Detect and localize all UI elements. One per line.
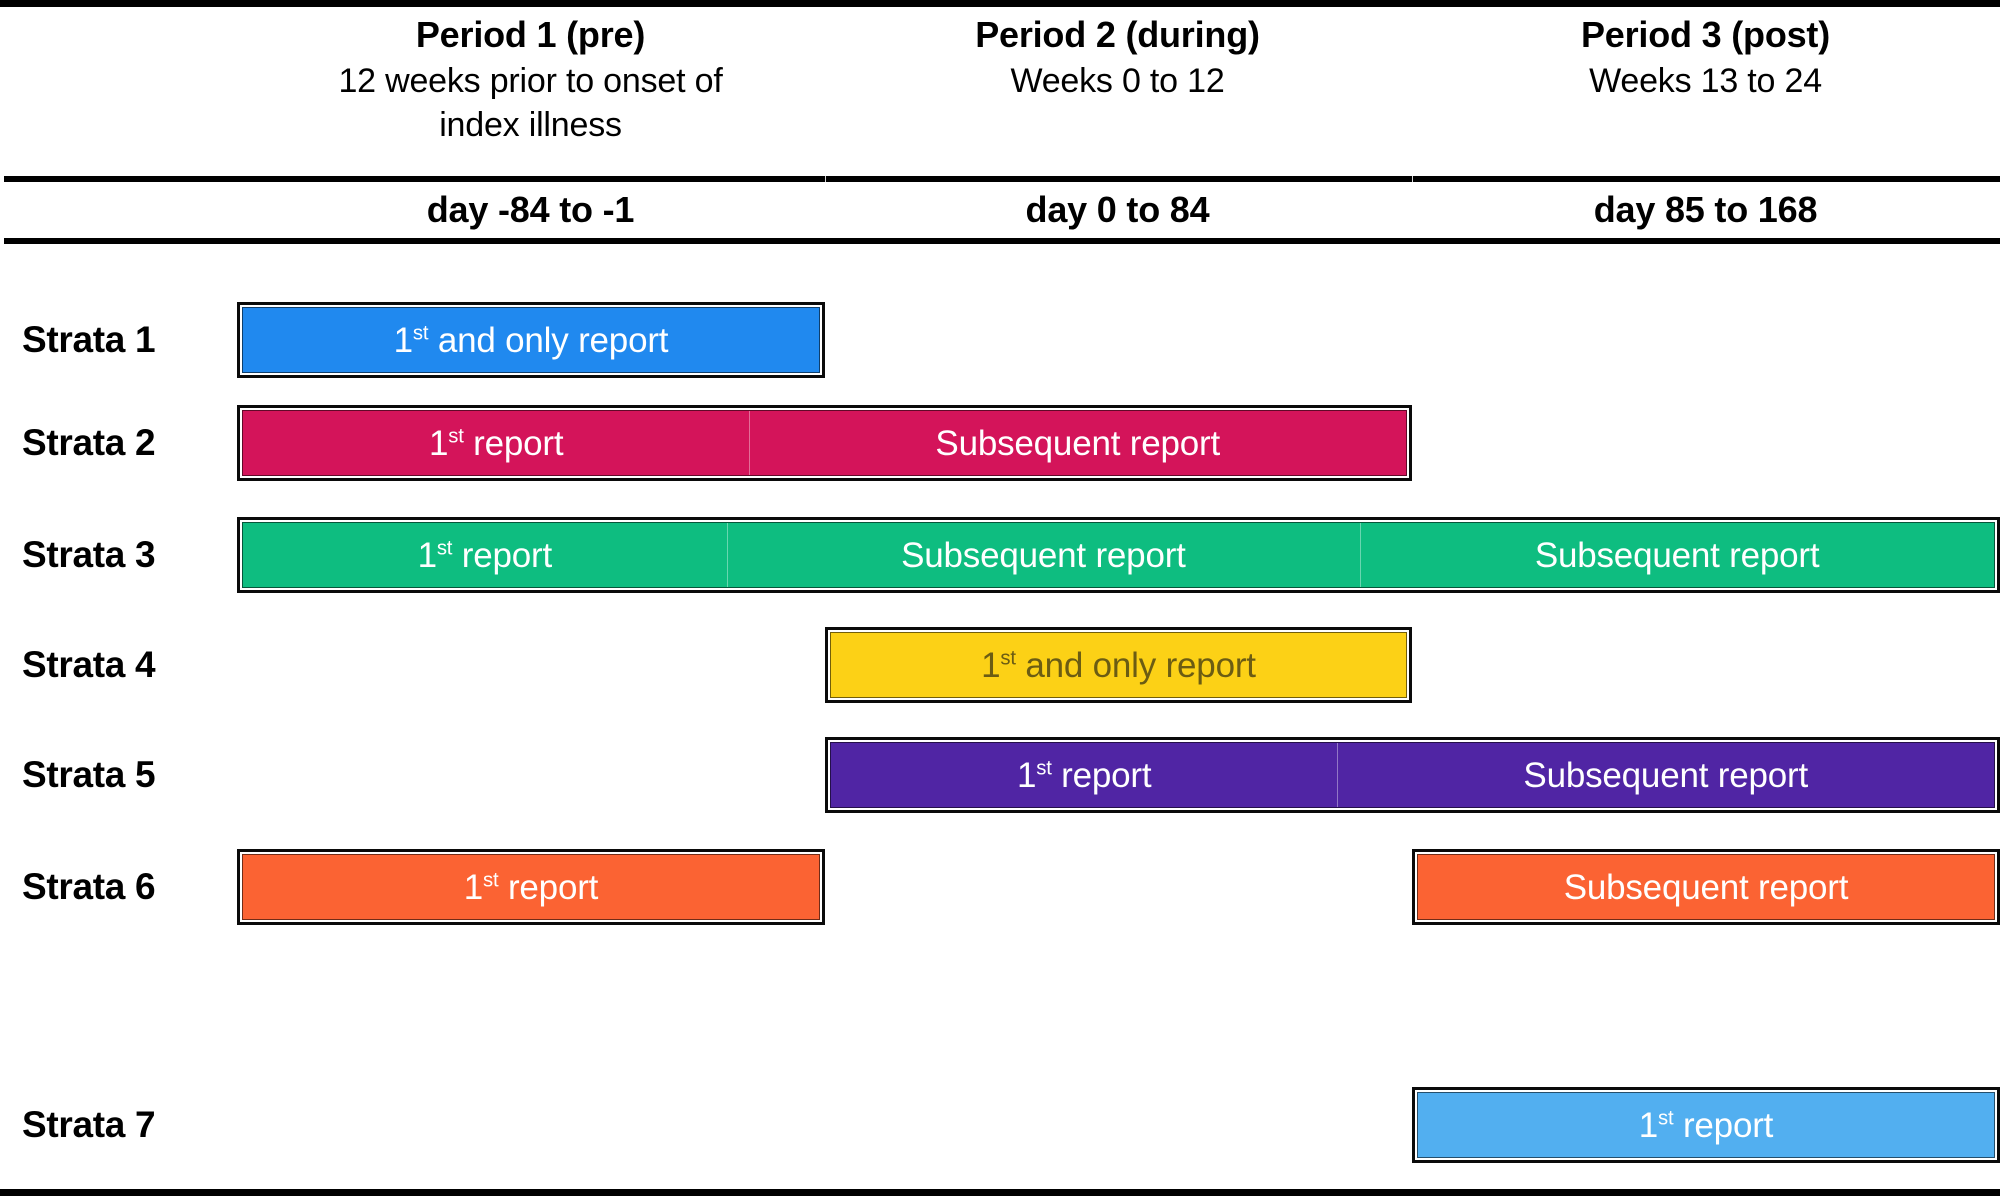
table-bottom-rule bbox=[0, 1189, 2000, 1196]
strata-bar[interactable]: 1st reportSubsequent reportSubsequent re… bbox=[237, 517, 2000, 593]
strata-bar-fill: 1st reportSubsequent reportSubsequent re… bbox=[242, 522, 1995, 588]
strata-bar-fill: Subsequent report bbox=[1417, 854, 1995, 920]
ordinal-suffix: st bbox=[448, 425, 463, 447]
ordinal-suffix: st bbox=[413, 322, 428, 344]
strata-bar-segment: 1st report bbox=[243, 855, 819, 919]
period-header-cell-2: Period 2 (during) Weeks 0 to 12 bbox=[824, 0, 1411, 176]
period-1-title: Period 1 (pre) bbox=[237, 12, 824, 59]
strata-row-label: Strata 7 bbox=[22, 1104, 155, 1146]
period-3-subtitle-line-1: Weeks 13 to 24 bbox=[1411, 59, 2000, 103]
strata-row-label: Strata 6 bbox=[22, 866, 155, 908]
strata-row: Strata 61st reportSubsequent report bbox=[0, 832, 2000, 942]
period-1-day-range: day -84 to -1 bbox=[237, 189, 824, 231]
strata-bar-segment-label: 1st report bbox=[1639, 1108, 1773, 1143]
header-left-spacer bbox=[0, 0, 237, 176]
strata-row: Strata 71st report bbox=[0, 1070, 2000, 1180]
period-1-subtitle-line-1: 12 weeks prior to onset of bbox=[237, 59, 824, 103]
strata-bar-segment-label: 1st report bbox=[1017, 758, 1151, 793]
strata-bar-fill: 1st report bbox=[1417, 1092, 1995, 1158]
ordinal-suffix: st bbox=[1036, 757, 1051, 779]
ordinal-suffix: st bbox=[437, 537, 452, 559]
strata-row-label: Strata 3 bbox=[22, 534, 155, 576]
strata-bar-fill: 1st and only report bbox=[242, 307, 820, 373]
strata-bar[interactable]: 1st reportSubsequent report bbox=[237, 405, 1412, 481]
strata-bar-segment: 1st report bbox=[1418, 1093, 1994, 1157]
ordinal-suffix: st bbox=[1658, 1107, 1673, 1129]
strata-row: Strata 11st and only report bbox=[0, 285, 2000, 395]
strata-bar-segment-label: Subsequent report bbox=[1523, 758, 1808, 793]
strata-bar[interactable]: 1st and only report bbox=[825, 627, 1412, 703]
strata-bar[interactable]: 1st report bbox=[237, 849, 825, 925]
strata-bar-segment: Subsequent report bbox=[1337, 743, 1994, 807]
strata-bar-segment: Subsequent report bbox=[749, 411, 1406, 475]
period-header-cell-1: Period 1 (pre) 12 weeks prior to onset o… bbox=[237, 0, 824, 176]
strata-bar[interactable]: 1st reportSubsequent report bbox=[825, 737, 2000, 813]
strata-bar-fill: 1st reportSubsequent report bbox=[242, 410, 1407, 476]
period-2-subtitle-line-1: Weeks 0 to 12 bbox=[824, 59, 1411, 103]
strata-bar-segment-label: 1st report bbox=[418, 538, 552, 573]
strata-bar[interactable]: Subsequent report bbox=[1412, 849, 2000, 925]
strata-bar-segment-label: Subsequent report bbox=[1535, 538, 1820, 573]
strata-bar[interactable]: 1st report bbox=[1412, 1087, 2000, 1163]
period-1-subtitle-line-2: index illness bbox=[237, 103, 824, 147]
strata-bar-fill: 1st and only report bbox=[830, 632, 1407, 698]
strata-bar-segment-label: Subsequent report bbox=[1564, 870, 1849, 905]
period-2-day-range: day 0 to 84 bbox=[824, 189, 1411, 231]
strata-row-label: Strata 1 bbox=[22, 319, 155, 361]
strata-row-label: Strata 5 bbox=[22, 754, 155, 796]
strata-bar-segment: Subsequent report bbox=[1418, 855, 1994, 919]
strata-bar-segment-label: Subsequent report bbox=[935, 426, 1220, 461]
period-3-title: Period 3 (post) bbox=[1411, 12, 2000, 59]
strata-row-label: Strata 4 bbox=[22, 644, 155, 686]
strata-bar-segment: 1st and only report bbox=[831, 633, 1406, 697]
strata-row: Strata 51st reportSubsequent report bbox=[0, 720, 2000, 830]
strata-bar-segment-label: Subsequent report bbox=[901, 538, 1186, 573]
strata-bar-segment: Subsequent report bbox=[727, 523, 1361, 587]
strata-bar-segment: 1st and only report bbox=[243, 308, 819, 372]
strata-row: Strata 41st and only report bbox=[0, 610, 2000, 720]
strata-row-label: Strata 2 bbox=[22, 422, 155, 464]
strata-bar-fill: 1st reportSubsequent report bbox=[830, 742, 1995, 808]
strata-row: Strata 31st reportSubsequent reportSubse… bbox=[0, 500, 2000, 610]
strata-bar-segment: Subsequent report bbox=[1360, 523, 1994, 587]
table-subheader-rule bbox=[4, 238, 2000, 244]
period-2-title: Period 2 (during) bbox=[824, 12, 1411, 59]
strata-bar-segment-label: 1st and only report bbox=[394, 323, 669, 358]
strata-bar-segment: 1st report bbox=[243, 411, 749, 475]
ordinal-suffix: st bbox=[1000, 647, 1015, 669]
period-header-cell-3: Period 3 (post) Weeks 13 to 24 bbox=[1411, 0, 2000, 176]
ordinal-suffix: st bbox=[483, 869, 498, 891]
strata-bar-segment-label: 1st and only report bbox=[981, 648, 1256, 683]
period-header-row: Period 1 (pre) 12 weeks prior to onset o… bbox=[0, 0, 2000, 176]
strata-bar-segment-label: 1st report bbox=[429, 426, 563, 461]
strata-period-diagram: Period 1 (pre) 12 weeks prior to onset o… bbox=[0, 0, 2000, 1199]
strata-bar-segment-label: 1st report bbox=[464, 870, 598, 905]
strata-bar-fill: 1st report bbox=[242, 854, 820, 920]
strata-row: Strata 21st reportSubsequent report bbox=[0, 388, 2000, 498]
strata-bar[interactable]: 1st and only report bbox=[237, 302, 825, 378]
day-range-row: day -84 to -1 day 0 to 84 day 85 to 168 bbox=[0, 182, 2000, 238]
strata-bar-segment: 1st report bbox=[243, 523, 727, 587]
period-3-day-range: day 85 to 168 bbox=[1411, 189, 2000, 231]
strata-bar-segment: 1st report bbox=[831, 743, 1337, 807]
